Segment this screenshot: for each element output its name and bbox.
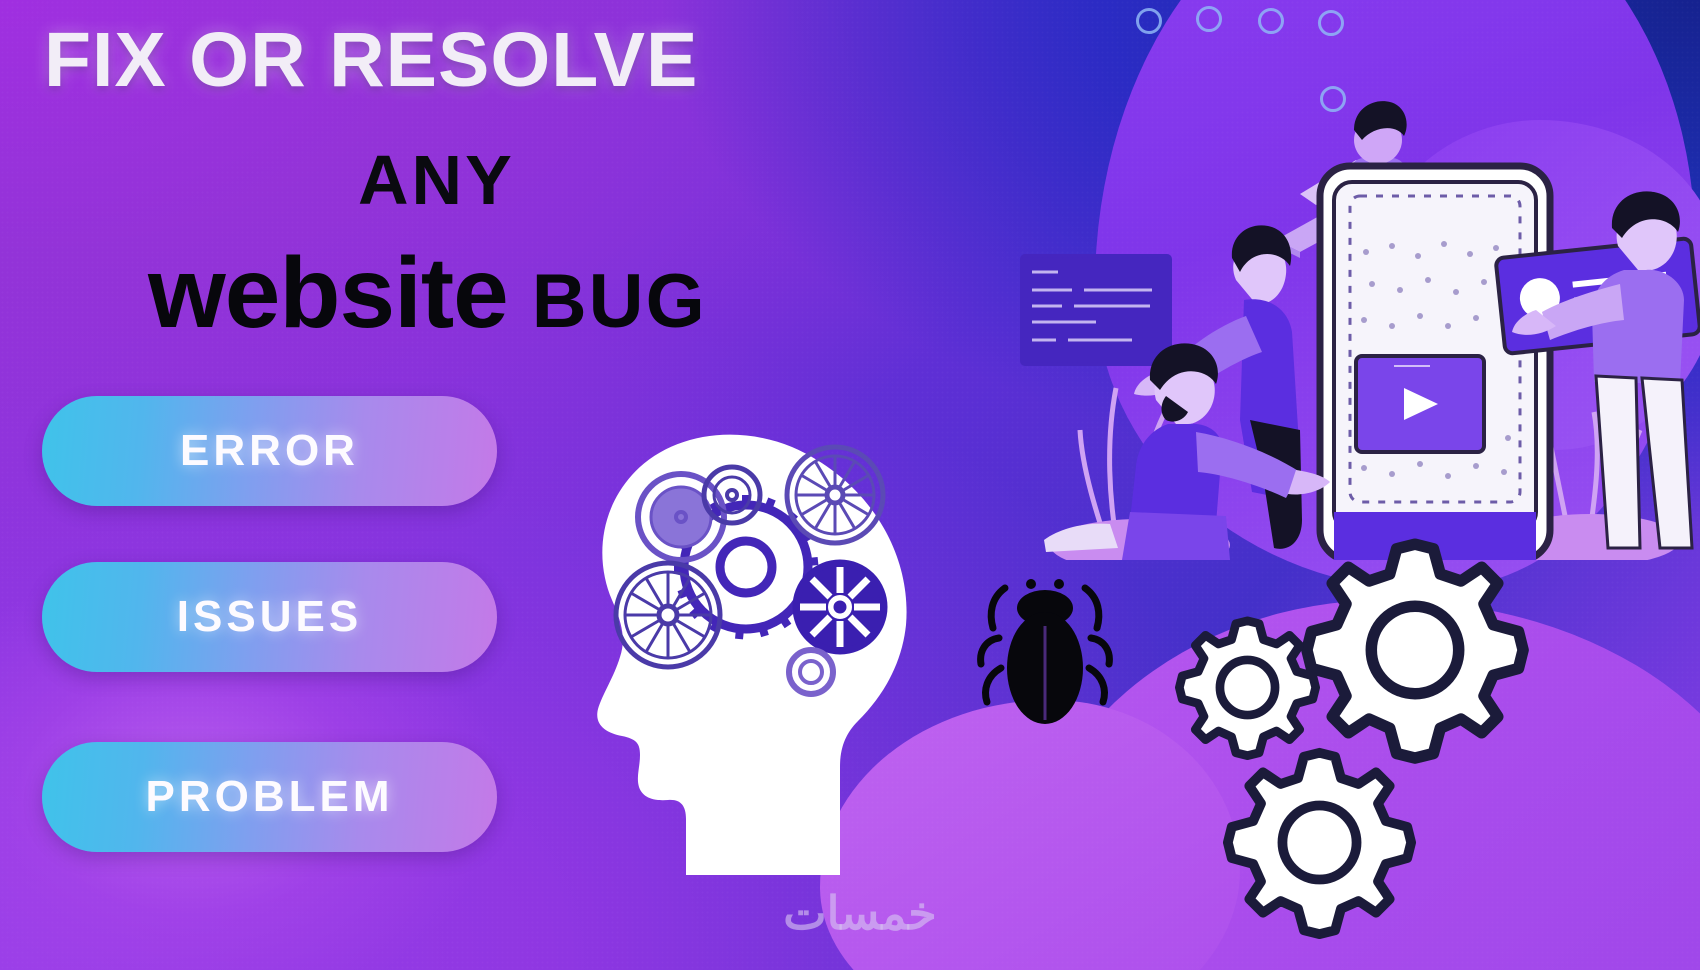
large-smartphone — [1320, 166, 1550, 560]
gear-medium-icon — [1222, 745, 1417, 940]
video-play-card — [1356, 356, 1484, 452]
bug-icon — [965, 560, 1125, 740]
headline-word-website: website — [148, 237, 508, 349]
head-silhouette-with-gears-icon — [540, 395, 910, 875]
headline-line-3: websiteBUG — [148, 236, 707, 351]
pill-issues-label: ISSUES — [177, 592, 362, 642]
code-snippet-window — [1020, 254, 1172, 366]
pill-problem-label: PROBLEM — [146, 772, 394, 822]
watermark-khamsat: خمسات — [700, 886, 1020, 940]
pill-problem[interactable]: PROBLEM — [42, 742, 497, 852]
headline-line-2: ANY — [358, 140, 515, 220]
team-mobile-app-illustration — [1000, 0, 1700, 560]
poster-canvas: FIX OR RESOLVE ANY websiteBUG ERROR ISSU… — [0, 0, 1700, 970]
headline-word-bug: BUG — [532, 259, 707, 344]
pill-error[interactable]: ERROR — [42, 396, 497, 506]
gear-large-icon — [1300, 535, 1530, 765]
pill-error-label: ERROR — [180, 426, 359, 476]
headline-line-1: FIX OR RESOLVE — [44, 16, 698, 105]
pill-issues[interactable]: ISSUES — [42, 562, 497, 672]
gear-small-icon — [1175, 615, 1320, 760]
